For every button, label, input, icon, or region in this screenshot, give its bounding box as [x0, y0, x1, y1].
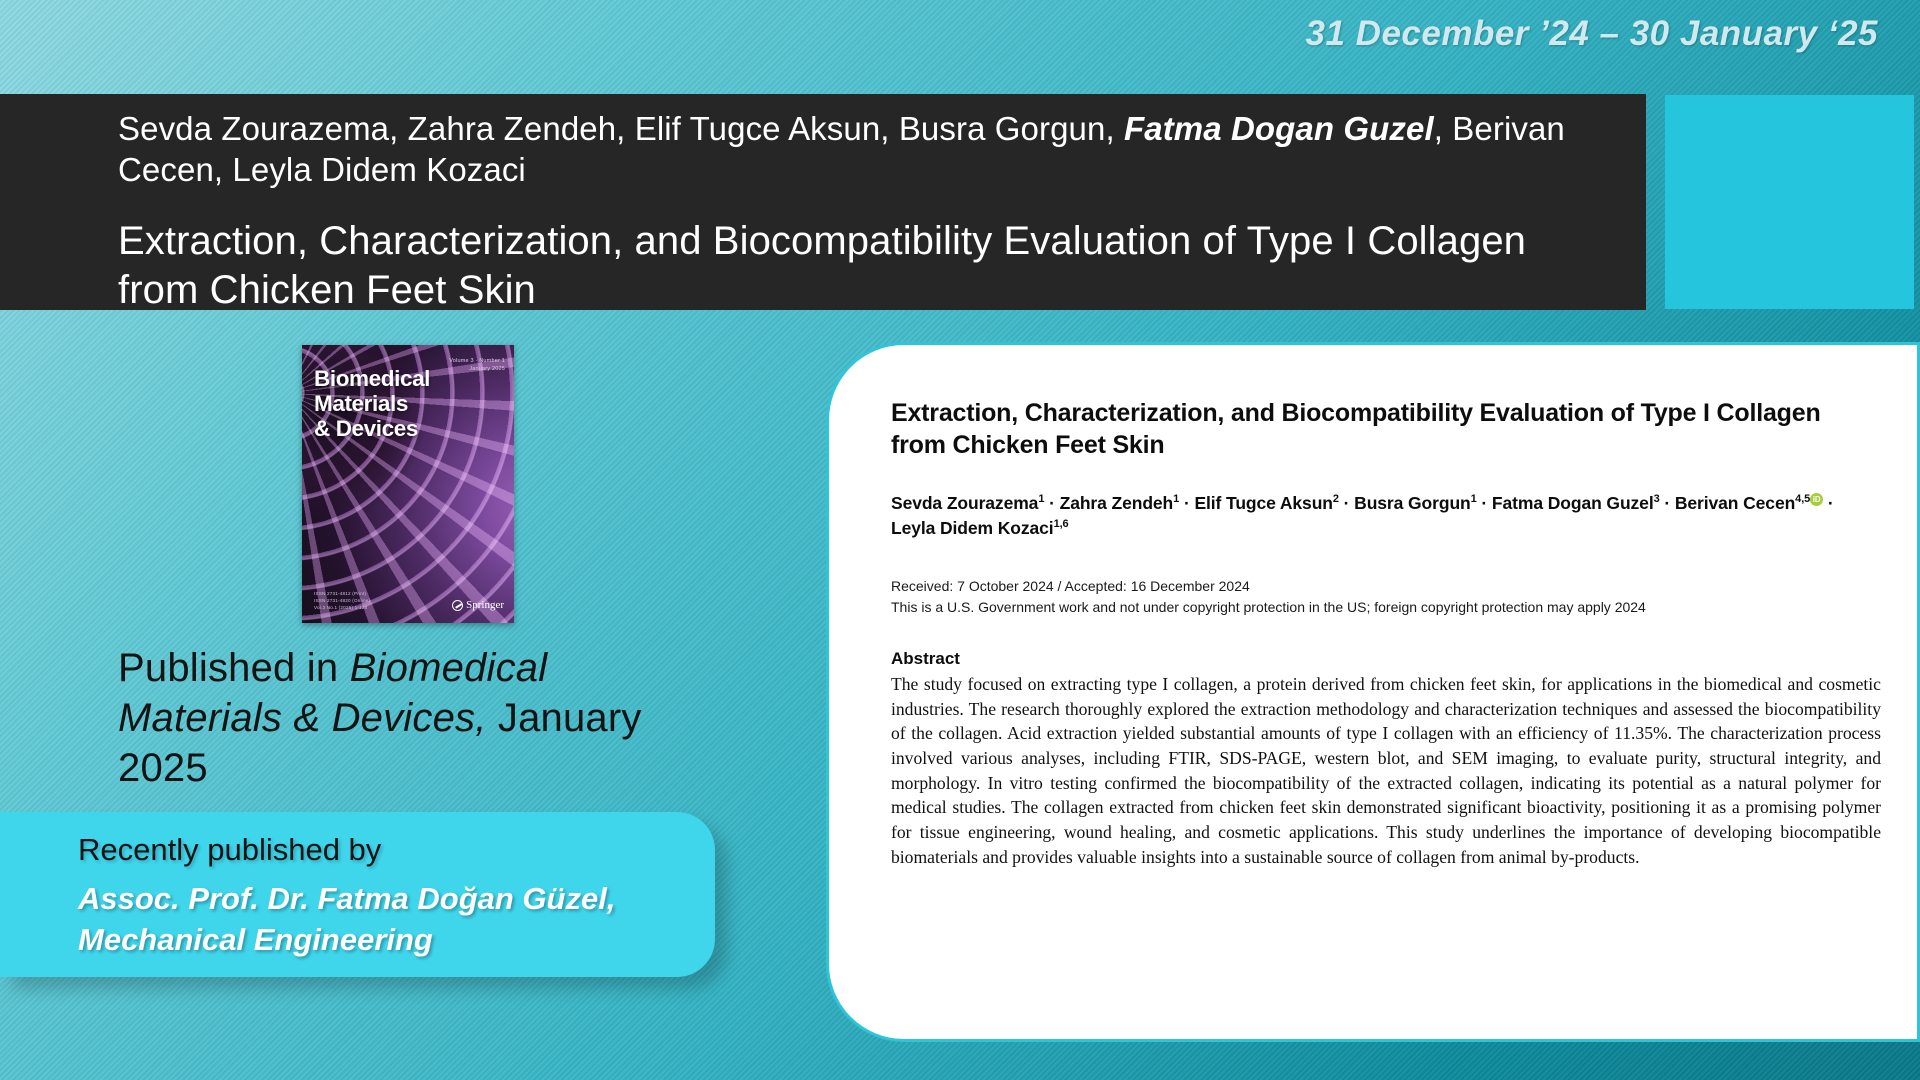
- paper-publication-meta: Received: 7 October 2024 / Accepted: 16 …: [891, 576, 1881, 619]
- paper-author-separator: ·: [1660, 493, 1675, 513]
- paper-author-name: Busra Gorgun: [1354, 493, 1470, 513]
- paper-author-name: Zahra Zendeh: [1060, 493, 1174, 513]
- banner-paper-title: Extraction, Characterization, and Biocom…: [118, 217, 1586, 316]
- date-range-label: 31 December ’24 – 30 January ‘25: [1306, 14, 1878, 54]
- banner-authors-pre: Sevda Zourazema, Zahra Zendeh, Elif Tugc…: [118, 110, 1124, 147]
- paper-first-page-card: Extraction, Characterization, and Biocom…: [826, 342, 1920, 1042]
- recently-published-callout: Recently published by Assoc. Prof. Dr. F…: [0, 812, 715, 977]
- cover-issue-info: Volume 3 · Number 1 January 2025: [449, 357, 505, 374]
- cover-title-line-2: Materials: [314, 392, 430, 417]
- callout-lead-text: Recently published by: [78, 830, 685, 870]
- abstract-body: The study focused on extracting type I c…: [891, 672, 1881, 869]
- paper-author-name: Berivan Cecen: [1675, 493, 1795, 513]
- paper-author-name: Leyla Didem Kozaci: [891, 518, 1054, 538]
- paper-author-separator: ·: [1044, 493, 1059, 513]
- paper-author-list: Sevda Zourazema1 · Zahra Zendeh1 · Elif …: [891, 491, 1881, 542]
- paper-author-name: Sevda Zourazema: [891, 493, 1038, 513]
- cover-title-line-1: Biomedical: [314, 367, 430, 392]
- slide-canvas: 31 December ’24 – 30 January ‘25 Sevda Z…: [0, 0, 1920, 1080]
- cover-issn-info: ISSN 2731-4812 (Print) ISSN 2731-4820 (O…: [314, 590, 370, 611]
- paper-author-separator: ·: [1477, 493, 1492, 513]
- paper-copyright-note: This is a U.S. Government work and not u…: [891, 597, 1881, 619]
- paper-author-affiliation-marker: 1,6: [1054, 519, 1069, 531]
- paper-author-separator: ·: [1179, 493, 1194, 513]
- paper-author-name: Elif Tugce Aksun: [1194, 493, 1332, 513]
- banner-author-list: Sevda Zourazema, Zahra Zendeh, Elif Tugc…: [118, 108, 1586, 191]
- paper-received-accepted: Received: 7 October 2024 / Accepted: 16 …: [891, 576, 1881, 598]
- paper-author-affiliation-marker: 4,5: [1795, 493, 1810, 505]
- springer-horse-icon: [452, 600, 463, 611]
- cover-journal-title: Biomedical Materials & Devices: [314, 367, 430, 441]
- published-in-caption: Published in Biomedical Materials & Devi…: [118, 643, 678, 793]
- springer-wordmark: Springer: [466, 599, 504, 611]
- springer-logo: Springer: [452, 599, 504, 611]
- accent-placeholder-block: [1665, 95, 1914, 309]
- journal-cover-image: Biomedical Materials & Devices Volume 3 …: [302, 345, 514, 623]
- callout-author-text: Assoc. Prof. Dr. Fatma Doğan Güzel, Mech…: [78, 879, 685, 960]
- paper-author-separator: ·: [1339, 493, 1354, 513]
- orcid-icon[interactable]: iD: [1810, 493, 1823, 506]
- title-banner: Sevda Zourazema, Zahra Zendeh, Elif Tugc…: [0, 94, 1646, 310]
- banner-authors-highlight: Fatma Dogan Guzel: [1124, 110, 1434, 147]
- cover-title-line-3: & Devices: [314, 417, 430, 442]
- published-in-prefix: Published in: [118, 646, 350, 690]
- paper-title: Extraction, Characterization, and Biocom…: [891, 397, 1881, 461]
- paper-author-name: Fatma Dogan Guzel: [1492, 493, 1654, 513]
- abstract-heading: Abstract: [891, 649, 1881, 669]
- paper-author-separator: ·: [1823, 493, 1834, 513]
